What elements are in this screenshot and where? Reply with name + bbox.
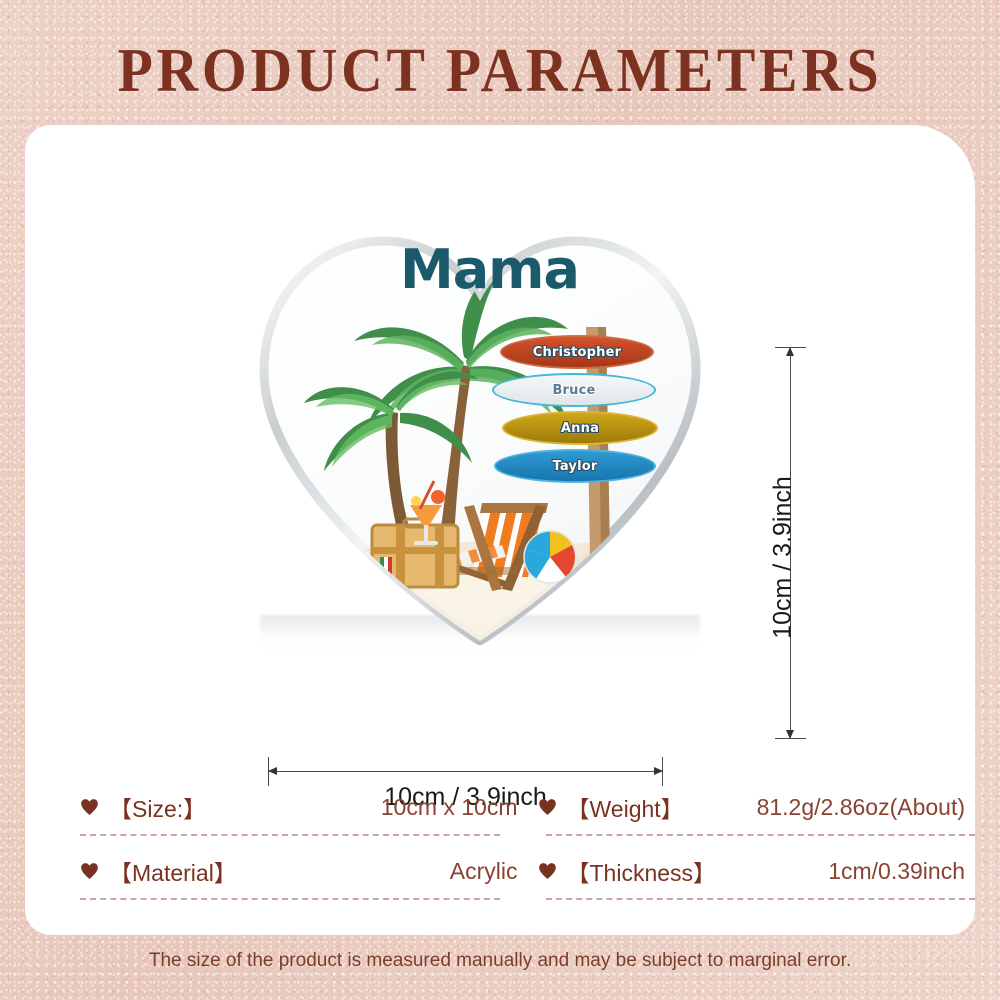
product-card: Mama Christopher Bruce Anna Taylor (25, 125, 975, 935)
spec-value: 10cm x 10cm (381, 794, 518, 821)
heart-plaque-svg (250, 205, 710, 645)
heart-icon (538, 798, 557, 816)
arrow-down-icon (786, 730, 794, 739)
spec-table: 【Size:】 10cm x 10cm 【Weight】 81.2g/2.86o… (80, 780, 975, 908)
footer-note: The size of the product is measured manu… (0, 950, 1000, 972)
heart-acrylic-plaque: Mama Christopher Bruce Anna Taylor (250, 205, 710, 645)
width-dimension-line (268, 771, 663, 772)
spec-key: 【Size:】 (109, 790, 206, 824)
spec-divider-row (80, 898, 975, 908)
spec-cell-weight: 【Weight】 81.2g/2.86oz(About) (528, 780, 976, 834)
spec-key: 【Material】 (109, 854, 237, 888)
heart-icon (538, 862, 557, 880)
spec-divider-row (80, 834, 975, 844)
arrow-left-icon (268, 767, 277, 775)
arrow-right-icon (654, 767, 663, 775)
spec-cell-material: 【Material】 Acrylic (80, 844, 528, 898)
spec-row: 【Material】 Acrylic 【Thickness】 1cm/0.39i… (80, 844, 975, 898)
spec-divider (528, 898, 976, 908)
arrow-up-icon (786, 347, 794, 356)
spec-cell-thickness: 【Thickness】 1cm/0.39inch (528, 844, 976, 898)
heart-icon (80, 862, 99, 880)
product-illustration: Mama Christopher Bruce Anna Taylor (230, 205, 730, 765)
suitcase (372, 519, 458, 587)
heart-icon (80, 798, 99, 816)
spec-divider (80, 898, 528, 908)
spec-value: 81.2g/2.86oz(About) (757, 794, 965, 821)
spec-value: Acrylic (450, 858, 518, 885)
spec-key: 【Thickness】 (567, 854, 717, 888)
spec-row: 【Size:】 10cm x 10cm 【Weight】 81.2g/2.86o… (80, 780, 975, 834)
spec-divider (80, 834, 528, 844)
spec-key: 【Weight】 (567, 790, 684, 824)
page-title: PRODUCT PARAMETERS (35, 36, 965, 107)
height-dimension-label: 10cm / 3.9inch (769, 476, 798, 639)
spec-value: 1cm/0.39inch (828, 858, 965, 885)
spec-divider (528, 834, 976, 844)
spec-cell-size: 【Size:】 10cm x 10cm (80, 780, 528, 834)
